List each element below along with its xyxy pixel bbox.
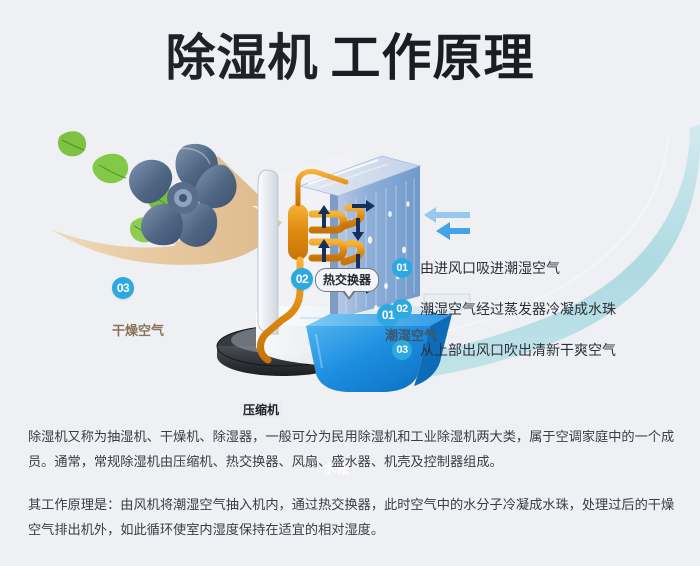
leaf-icon bbox=[58, 131, 86, 156]
legend-item-label: 潮湿空气经过蒸发器冷凝成水珠 bbox=[420, 299, 616, 319]
title-part-2: 工作原理 bbox=[331, 28, 535, 88]
legend-number-badge: 03 bbox=[392, 340, 412, 360]
legend-item-label: 从上部出风口吹出清新干爽空气 bbox=[420, 340, 616, 360]
diagram-badge-03: 03 bbox=[112, 277, 134, 299]
page-title: 除湿机工作原理 bbox=[0, 28, 700, 88]
legend-item: 03 从上部出风口吹出清新干爽空气 bbox=[392, 340, 692, 360]
diagram-badge-02: 02 bbox=[291, 268, 313, 290]
legend-item-label: 由进风口吸进潮湿空气 bbox=[420, 258, 560, 278]
heat-exchanger-callout: 热交换器 bbox=[315, 268, 379, 292]
dry-air-label: 干燥空气 bbox=[112, 324, 164, 338]
infographic-page: 除湿机工作原理 bbox=[0, 0, 700, 566]
legend-list: 01 由进风口吸进潮湿空气 02 潮湿空气经过蒸发器冷凝成水珠 03 从上部出风… bbox=[392, 258, 692, 381]
legend-item: 02 潮湿空气经过蒸发器冷凝成水珠 bbox=[392, 299, 692, 319]
title-part-1: 除湿机 bbox=[166, 28, 319, 88]
legend-number-badge: 02 bbox=[392, 299, 412, 319]
legend-number-badge: 01 bbox=[392, 258, 412, 278]
legend-item: 01 由进风口吸进潮湿空气 bbox=[392, 258, 692, 278]
body-copy: 除湿机又称为抽湿机、干燥机、除湿器，一般可分为民用除湿机和工业除湿机两大类，属于… bbox=[28, 424, 676, 542]
body-paragraph-2: 其工作原理是：由风机将潮湿空气抽入机内，通过热交换器，此时空气中的水分子冷凝成水… bbox=[28, 492, 676, 542]
air-inlet-arrows bbox=[424, 207, 470, 240]
body-paragraph-1: 除湿机又称为抽湿机、干燥机、除湿器，一般可分为民用除湿机和工业除湿机两大类，属于… bbox=[28, 424, 676, 474]
leaf-icon bbox=[93, 154, 129, 183]
compressor-label: 压缩机 bbox=[240, 402, 282, 418]
